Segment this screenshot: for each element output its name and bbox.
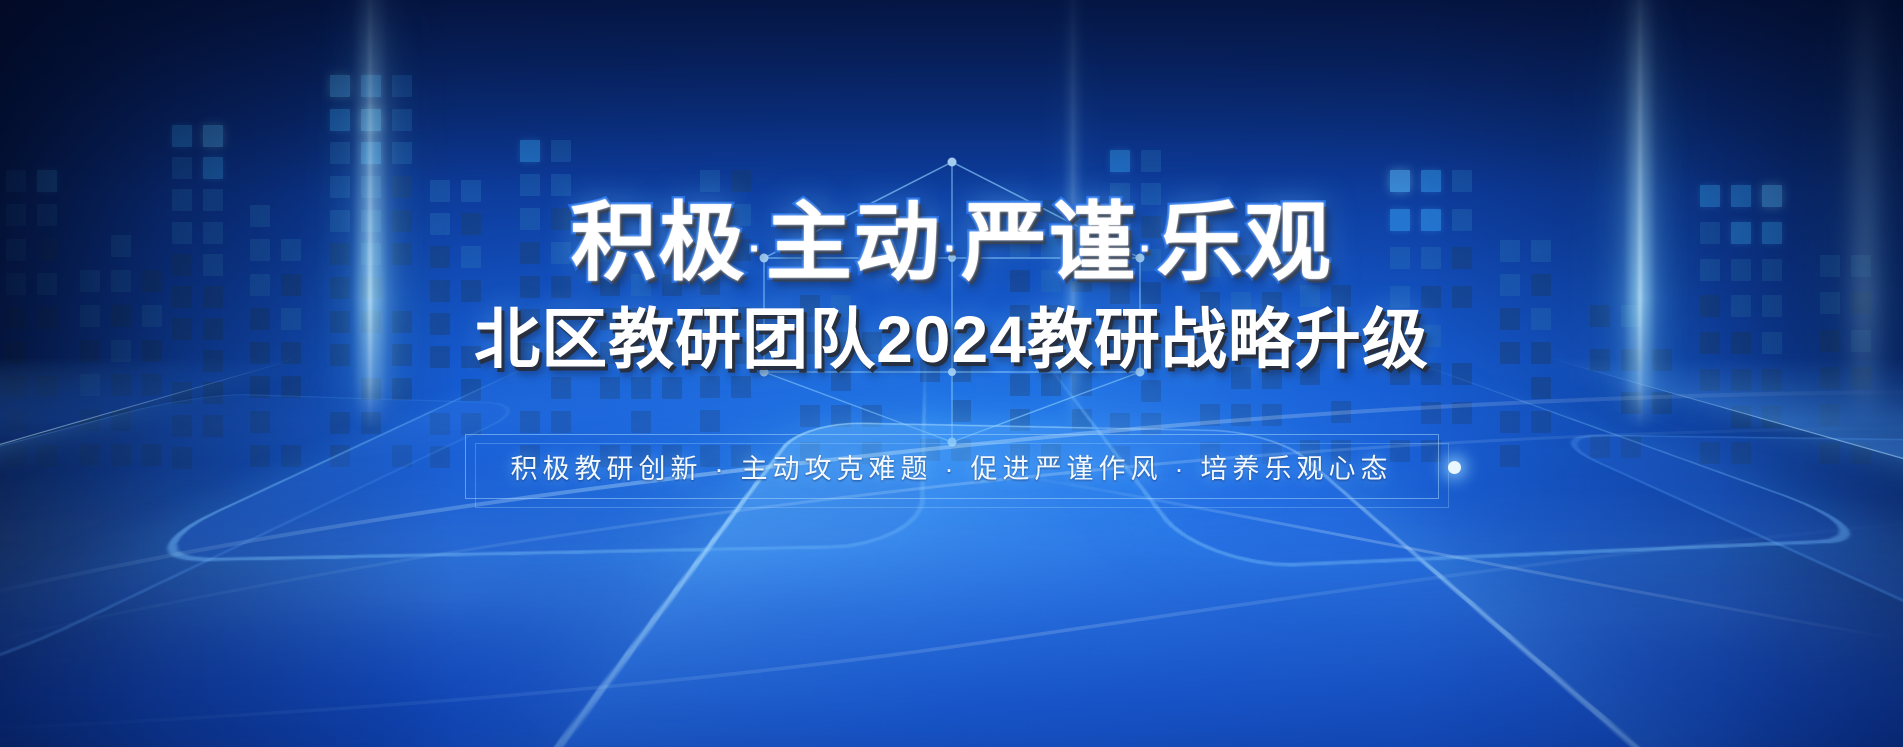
floor-haze bbox=[0, 547, 1903, 747]
perspective-panel-floor bbox=[0, 357, 1903, 747]
banner-stage: 积极·主动·严谨·乐观 北区教研团队2024教研战略升级 积极教研创新·主动攻克… bbox=[0, 0, 1903, 747]
